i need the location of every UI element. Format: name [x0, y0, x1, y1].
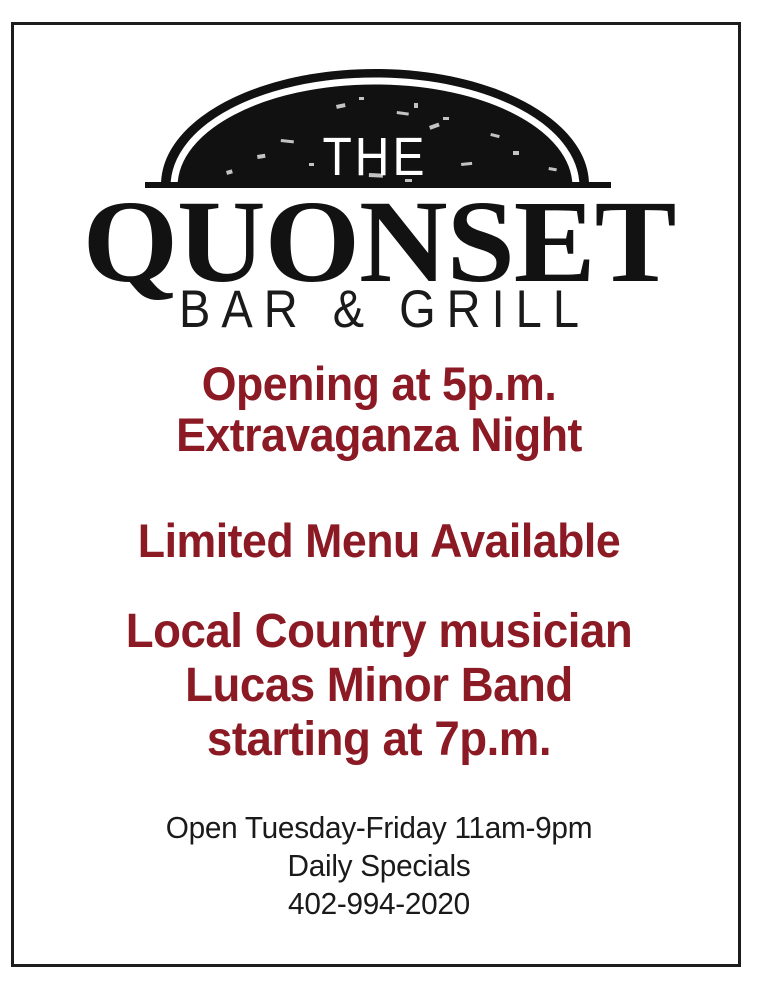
- promo-band-line-2: Lucas Minor Band: [32, 659, 726, 713]
- quonset-logo: THE QUONSET BAR & GRILL: [14, 25, 744, 335]
- quonset-dome-icon: THE: [161, 67, 589, 187]
- promo-band-line-3: starting at 7p.m.: [32, 713, 726, 767]
- promo-menu-line-1: Limited Menu Available: [32, 515, 726, 566]
- logo-subwordmark: BAR & GRILL: [14, 282, 744, 335]
- footer-specials: Daily Specials: [29, 847, 730, 885]
- footer-hours: Open Tuesday-Friday 11am-9pm: [29, 809, 730, 847]
- promo-band-line-1: Local Country musician: [32, 605, 726, 659]
- footer-phone: 402-994-2020: [29, 885, 730, 923]
- promo-band-block: Local Country musician Lucas Minor Band …: [32, 605, 726, 767]
- promo-menu-block: Limited Menu Available: [32, 515, 726, 566]
- promo-opening-block: Opening at 5p.m. Extravaganza Night: [32, 358, 726, 460]
- promo-opening-line-1: Opening at 5p.m.: [32, 358, 726, 409]
- promo-opening-line-2: Extravaganza Night: [32, 409, 726, 460]
- advertisement-flyer: THE QUONSET BAR & GRILL Opening at 5p.m.…: [0, 0, 775, 986]
- flyer-border-frame: THE QUONSET BAR & GRILL Opening at 5p.m.…: [11, 22, 741, 967]
- footer-info-block: Open Tuesday-Friday 11am-9pm Daily Speci…: [29, 809, 730, 923]
